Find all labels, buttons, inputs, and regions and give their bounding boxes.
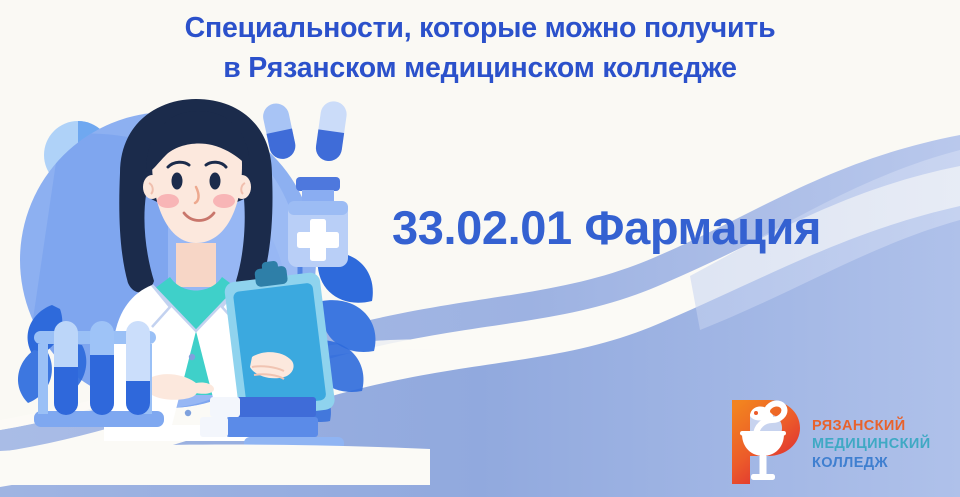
- test-tube-rack: [34, 321, 164, 427]
- logo-line-ryazanskiy: РЯЗАНСКИЙ: [812, 419, 931, 435]
- specialty-heading: 33.02.01 Фармация: [392, 200, 821, 255]
- college-logo: РЯЗАНСКИЙ МЕДИЦИНСКИЙ КОЛЛЕДЖ: [726, 396, 946, 488]
- title-line-1: Специальности, которые можно получить: [0, 8, 960, 48]
- logo-wordmark: РЯЗАНСКИЙ МЕДИЦИНСКИЙ КОЛЛЕДЖ: [812, 413, 931, 472]
- pharmacy-bowl-of-hygieia-letter-r-icon: [726, 400, 800, 484]
- test-tube: [90, 321, 114, 415]
- pharmacist-illustration: [0, 95, 430, 485]
- title-line-2: в Рязанском медицинском колледже: [0, 48, 960, 88]
- promo-banner: Специальности, которые можно получить в …: [0, 0, 960, 497]
- logo-line-kolledzh: КОЛЛЕДЖ: [812, 456, 931, 472]
- eye-left: [172, 173, 183, 190]
- test-tube: [54, 321, 78, 415]
- pill-capsules: [261, 100, 349, 163]
- test-tube: [126, 321, 150, 415]
- page-title: Специальности, которые можно получить в …: [0, 8, 960, 89]
- eye-right: [210, 173, 221, 190]
- logo-line-medicinskiy: МЕДИЦИНСКИЙ: [812, 437, 931, 453]
